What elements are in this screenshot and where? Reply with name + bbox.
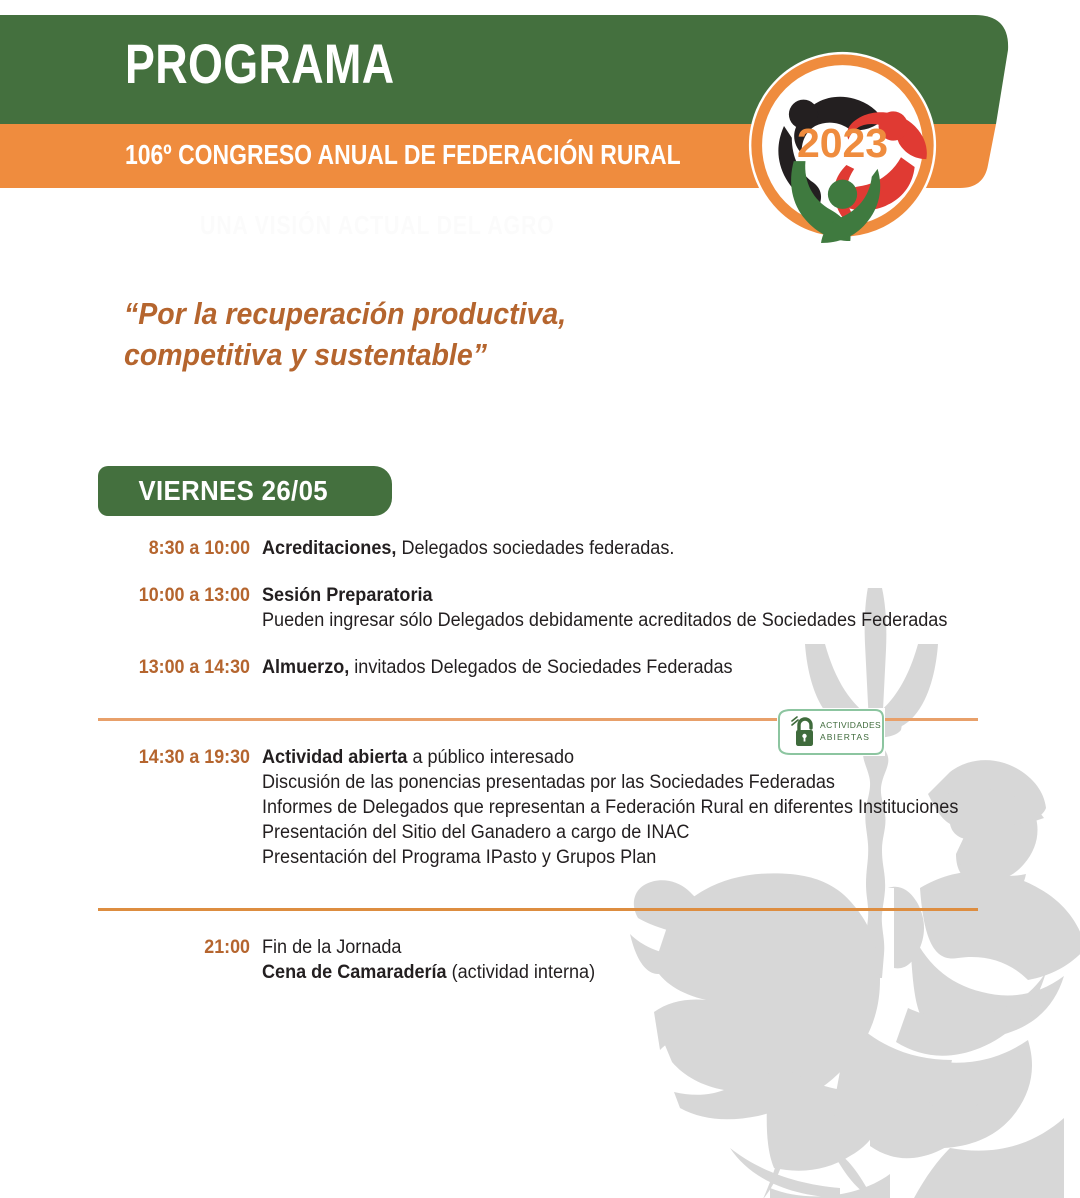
- spacer: [0, 892, 1080, 908]
- schedule-line: Almuerzo, invitados Delegados de Socieda…: [262, 655, 733, 680]
- schedule-line-emphasis: Acreditaciones,: [262, 538, 396, 559]
- schedule-body: Fin de la JornadaCena de Camaradería (ac…: [262, 935, 595, 985]
- day-badge-label: VIERNES 26/05: [98, 475, 368, 507]
- schedule-row: 21:00Fin de la JornadaCena de Camaraderí…: [0, 935, 1080, 985]
- spacer: [0, 911, 1080, 935]
- open-activities-line-2: ABIERTAS: [820, 731, 881, 743]
- schedule-time: 13:00 a 14:30: [15, 655, 250, 680]
- schedule-line: Discusión de las ponencias presentadas p…: [262, 770, 958, 795]
- open-padlock-icon: [791, 716, 817, 748]
- schedule-line-text: a público interesado: [407, 747, 574, 768]
- schedule-line-text: Fin de la Jornada: [262, 937, 401, 958]
- schedule-line-text: invitados Delegados de Sociedades Federa…: [349, 657, 732, 678]
- schedule-time: 8:30 a 10:00: [15, 536, 250, 561]
- schedule-row: 14:30 a 19:30Actividad abierta a público…: [0, 745, 1080, 870]
- schedule-body: Actividad abierta a público interesadoDi…: [262, 745, 958, 870]
- schedule-line: Sesión Preparatoria: [262, 583, 947, 608]
- schedule-body: Sesión PreparatoriaPueden ingresar sólo …: [262, 583, 947, 633]
- tagline: “Por la recuperación productiva, competi…: [124, 294, 694, 376]
- logo-year: 2023: [797, 120, 888, 166]
- spacer: [0, 702, 1080, 718]
- schedule-line: Cena de Camaradería (actividad interna): [262, 960, 595, 985]
- spacer: [0, 721, 1080, 745]
- schedule-line-emphasis: Actividad abierta: [262, 747, 407, 768]
- schedule-row: 10:00 a 13:00Sesión PreparatoriaPueden i…: [0, 583, 1080, 633]
- schedule-list: 8:30 a 10:00Acreditaciones, Delegados so…: [0, 536, 1080, 1007]
- congress-logo-icon: 2023: [745, 48, 940, 243]
- schedule-row: 8:30 a 10:00Acreditaciones, Delegados so…: [0, 536, 1080, 561]
- schedule-body: Acreditaciones, Delegados sociedades fed…: [262, 536, 674, 561]
- open-activities-line-1: ACTIVIDADES: [820, 719, 881, 731]
- tagline-line-2: competitiva y sustentable”: [124, 335, 694, 376]
- header-subtitle: 106º CONGRESO ANUAL DE FEDERACIÓN RURAL: [125, 141, 681, 169]
- schedule-line: Pueden ingresar sólo Delegados debidamen…: [262, 608, 947, 633]
- schedule-row: 13:00 a 14:30Almuerzo, invitados Delegad…: [0, 655, 1080, 680]
- tagline-line-1: “Por la recuperación productiva,: [124, 294, 694, 335]
- schedule-line: Presentación del Sitio del Ganadero a ca…: [262, 820, 958, 845]
- schedule-body: Almuerzo, invitados Delegados de Socieda…: [262, 655, 733, 680]
- schedule-line: Fin de la Jornada: [262, 935, 595, 960]
- schedule-line: Acreditaciones, Delegados sociedades fed…: [262, 536, 674, 561]
- header-ghost-line: UNA VISIÓN ACTUAL DEL AGRO: [200, 212, 555, 238]
- page-title: PROGRAMA: [125, 36, 395, 92]
- schedule-line: Presentación del Programa IPasto y Grupo…: [262, 845, 958, 870]
- day-badge: VIERNES 26/05: [98, 466, 392, 516]
- open-activities-text: ACTIVIDADES ABIERTAS: [820, 719, 881, 743]
- schedule-line-emphasis: Sesión Preparatoria: [262, 585, 433, 606]
- schedule-time: 21:00: [15, 935, 250, 960]
- schedule-line-emphasis: Almuerzo,: [262, 657, 349, 678]
- schedule-line-text: Presentación del Sitio del Ganadero a ca…: [262, 822, 689, 843]
- schedule-time: 14:30 a 19:30: [15, 745, 250, 770]
- schedule-line-text: Pueden ingresar sólo Delegados debidamen…: [262, 610, 947, 631]
- schedule-line: Informes de Delegados que representan a …: [262, 795, 958, 820]
- schedule-line-text: Informes de Delegados que representan a …: [262, 797, 958, 818]
- open-activities-badge: ACTIVIDADES ABIERTAS: [777, 708, 885, 756]
- schedule-line-text: Discusión de las ponencias presentadas p…: [262, 772, 835, 793]
- schedule-time: 10:00 a 13:00: [15, 583, 250, 608]
- schedule-line-text: Presentación del Programa IPasto y Grupo…: [262, 847, 656, 868]
- schedule-line-emphasis: Cena de Camaradería: [262, 962, 447, 983]
- schedule-line-text: Delegados sociedades federadas.: [396, 538, 674, 559]
- schedule-line-text: (actividad interna): [447, 962, 595, 983]
